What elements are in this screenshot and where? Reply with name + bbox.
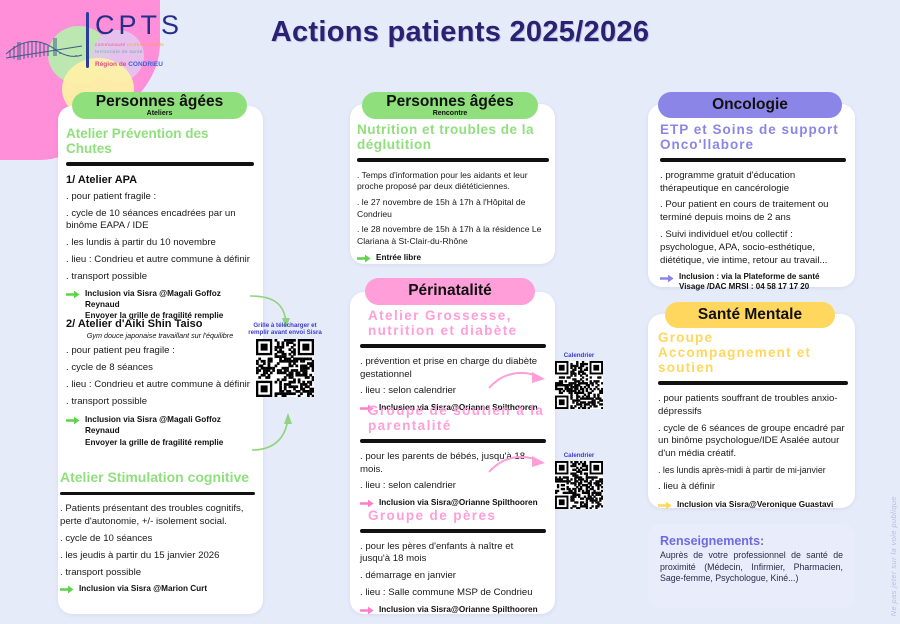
- logo-name: CPTS: [95, 12, 183, 39]
- body-line: . pour patients souffrant de troubles an…: [658, 393, 848, 419]
- body-line: . transport possible: [66, 271, 254, 284]
- body-line: . les lundis après-midi à partir de mi-j…: [658, 465, 848, 477]
- section-title: Groupe Accompagnement et soutien: [658, 330, 848, 375]
- section-body: . Temps d'information pour les aidants e…: [357, 170, 549, 248]
- inclusion-text: Inclusion via Sisra@Veronique Guastavi: [677, 499, 833, 510]
- arrow-right-icon: [360, 606, 374, 615]
- body-line: . transport possible: [60, 567, 255, 580]
- arrow-right-icon: [357, 254, 371, 263]
- body-line: . le 28 novembre de 15h à 17h à la résid…: [357, 224, 549, 247]
- body-line: . lieu : selon calendrier: [360, 480, 546, 493]
- body-line: . le 27 novembre de 15h à 17h à l'Hôpita…: [357, 197, 549, 220]
- arrow-right-icon: [66, 416, 80, 425]
- logo-subtitle: communauté professionnelle territoriale …: [95, 42, 183, 56]
- section-title: Atelier Grossesse, nutrition et diabète: [360, 308, 546, 338]
- footer-note: Ne pas jeter sur la voie publique: [889, 496, 898, 616]
- section-title: Groupe de soutien à la parentalité: [360, 403, 546, 433]
- inclusion-text: Inclusion via Sisra @Magali Goffoz Reyna…: [85, 288, 254, 321]
- section-groupe-peres: Groupe de pères . pour les pères d'enfan…: [360, 508, 546, 615]
- qr-block-calendrier-grossesse[interactable]: Calendrier: [551, 352, 607, 409]
- section-nutrition-deglutition: Nutrition et troubles de la déglutition …: [357, 122, 549, 263]
- section-rule: [360, 439, 546, 443]
- qr-code-image[interactable]: [256, 339, 314, 397]
- page-title: Actions patients 2025/2026: [240, 16, 680, 49]
- qr-code-image[interactable]: [555, 461, 603, 509]
- pill-title: Santé Mentale: [698, 307, 802, 323]
- body-line: . démarrage en janvier: [360, 570, 546, 583]
- pill-title: Personnes âgées: [386, 94, 514, 110]
- qr-code-image[interactable]: [555, 361, 603, 409]
- inclusion-text: Entrée libre: [376, 252, 421, 263]
- pill-sante-mentale: Santé Mentale: [665, 302, 835, 328]
- logo-region-prefix: Région de: [95, 61, 126, 68]
- inclusion-text: Inclusion : via la Plateforme de santé V…: [679, 272, 820, 294]
- body-line: . programme gratuit d'éducation thérapeu…: [660, 170, 846, 196]
- body-line: . les lundis à partir du 10 novembre: [66, 237, 254, 250]
- body-line: . Patients présentant des troubles cogni…: [60, 503, 255, 529]
- body-line: . lieu à définir: [658, 481, 848, 494]
- body-line: . Pour patient en cours de traitement ou…: [660, 199, 846, 225]
- qr-label: Calendrier: [551, 452, 607, 459]
- section-body: . pour patient fragile : . cycle de 10 s…: [66, 191, 254, 284]
- bridge-icon: [4, 24, 84, 69]
- section-atelier-grossesse: Atelier Grossesse, nutrition et diabète …: [360, 308, 546, 413]
- section-title: Groupe de pères: [360, 508, 546, 523]
- section-prevention-chutes: Atelier Prévention des Chutes 1/ Atelier…: [66, 126, 254, 321]
- section-subhead: 2/ Atelier d'Aiki Shin Taiso Gym douce j…: [66, 318, 254, 340]
- arrow-right-icon: [658, 501, 672, 510]
- section-rule: [60, 492, 255, 496]
- section-body: . pour les pères d'enfants à naître et j…: [360, 541, 546, 600]
- body-line: . pour patient fragile :: [66, 191, 254, 204]
- curved-arrow-icon: [487, 368, 549, 394]
- pill-title: Périnatalité: [408, 283, 492, 299]
- pill-subtitle: Ateliers: [147, 110, 173, 117]
- qr-block-calendrier-parentalite[interactable]: Calendrier: [551, 452, 607, 509]
- pill-personnes-agees-ateliers: Personnes âgées Ateliers: [72, 92, 247, 119]
- section-rule: [66, 162, 254, 166]
- body-line: . cycle de 6 séances de groupe encadré p…: [658, 423, 848, 462]
- body-line: . Suivi individuel et/ou collectif : psy…: [660, 229, 846, 268]
- section-title: Atelier Stimulation cognitive: [60, 470, 255, 486]
- logo-region: Région de CONDRIEU: [95, 61, 183, 68]
- inclusion-text: Inclusion via Sisra @Magali Goffoz Reyna…: [85, 414, 254, 447]
- body-line: . cycle de 8 séances: [66, 362, 254, 375]
- inclusion-text: Inclusion via Sisra@Orianne Spilthooren: [379, 497, 538, 508]
- logo-subtitle-part-1: communauté: [95, 42, 126, 47]
- inclusion-text: Inclusion via Sisra@Orianne Spilthooren: [379, 604, 538, 615]
- section-body: . pour patient peu fragile : . cycle de …: [66, 345, 254, 408]
- section-rule: [658, 381, 848, 385]
- pill-perinatalite: Périnatalité: [365, 278, 535, 305]
- pill-title: Oncologie: [712, 97, 788, 113]
- section-rule: [360, 529, 546, 533]
- section-title: ETP et Soins de support Onco'llabore: [660, 122, 846, 152]
- section-title: Atelier Prévention des Chutes: [66, 126, 254, 156]
- arrow-right-icon: [660, 274, 674, 283]
- renseignements-title: Renseignements:: [660, 534, 843, 548]
- body-line: . lieu : Condrieu et autre commune à déf…: [66, 379, 254, 392]
- logo-divider: [86, 12, 89, 68]
- arrow-right-icon: [60, 585, 74, 594]
- body-line: . pour les pères d'enfants à naître et j…: [360, 541, 546, 567]
- body-line: . lieu : Salle commune MSP de Condrieu: [360, 587, 546, 600]
- section-subhead: 1/ Atelier APA: [66, 174, 254, 186]
- curved-arrow-icon: [250, 408, 300, 453]
- subhead-text: 2/ Atelier d'Aiki Shin Taiso: [66, 318, 202, 330]
- qr-label: Calendrier: [551, 352, 607, 359]
- logo-region-name: CONDRIEU: [128, 61, 163, 68]
- pill-subtitle: Rencontre: [433, 110, 468, 117]
- curved-arrow-icon: [487, 452, 549, 478]
- section-stimulation-cognitive: Atelier Stimulation cognitive . Patients…: [60, 470, 255, 594]
- section-aiki-shin-taiso: 2/ Atelier d'Aiki Shin Taiso Gym douce j…: [66, 318, 254, 448]
- cpts-logo: CPTS communauté professionnelle territor…: [86, 12, 183, 68]
- body-line: . lieu : Condrieu et autre commune à déf…: [66, 254, 254, 267]
- body-line: . les jeudis à partir du 15 janvier 2026: [60, 550, 255, 563]
- inclusion-text: Inclusion via Sisra @Marion Curt: [79, 583, 207, 594]
- logo-subtitle-part-2: professionnelle: [127, 42, 164, 47]
- body-line: . Temps d'information pour les aidants e…: [357, 170, 549, 193]
- logo-subtitle-part-3: territoriale de santé: [95, 49, 143, 54]
- section-rule: [360, 344, 546, 348]
- section-etp-oncollabore: ETP et Soins de support Onco'llabore . p…: [660, 122, 846, 293]
- section-body: . pour patients souffrant de troubles an…: [658, 393, 848, 494]
- body-line: . pour patient peu fragile :: [66, 345, 254, 358]
- qr-block-grille-fragilite[interactable]: Grille à télécharger et remplir avant en…: [247, 322, 323, 397]
- body-line: . cycle de 10 séances encadrées par un b…: [66, 208, 254, 234]
- arrow-right-icon: [66, 290, 80, 299]
- section-body: . programme gratuit d'éducation thérapeu…: [660, 170, 846, 268]
- pill-personnes-agees-rencontre: Personnes âgées Rencontre: [362, 92, 538, 119]
- poster-canvas: CPTS communauté professionnelle territor…: [0, 0, 900, 624]
- renseignements-text: Auprès de votre professionnel de santé d…: [660, 550, 843, 585]
- qr-label: Grille à télécharger et remplir avant en…: [247, 322, 323, 337]
- body-line: . cycle de 10 séances: [60, 533, 255, 546]
- body-line: . transport possible: [66, 396, 254, 409]
- section-groupe-accompagnement: Groupe Accompagnement et soutien . pour …: [658, 330, 848, 510]
- pill-title: Personnes âgées: [96, 94, 224, 110]
- section-rule: [357, 158, 549, 162]
- section-rule: [660, 158, 846, 162]
- section-title: Nutrition et troubles de la déglutition: [357, 122, 549, 152]
- subhead-italic: Gym douce japonaise travaillant sur l'éq…: [66, 331, 254, 340]
- renseignements-box: Renseignements: Auprès de votre professi…: [648, 524, 855, 608]
- pill-oncologie: Oncologie: [658, 92, 842, 118]
- arrow-right-icon: [360, 499, 374, 508]
- section-body: . Patients présentant des troubles cogni…: [60, 503, 255, 579]
